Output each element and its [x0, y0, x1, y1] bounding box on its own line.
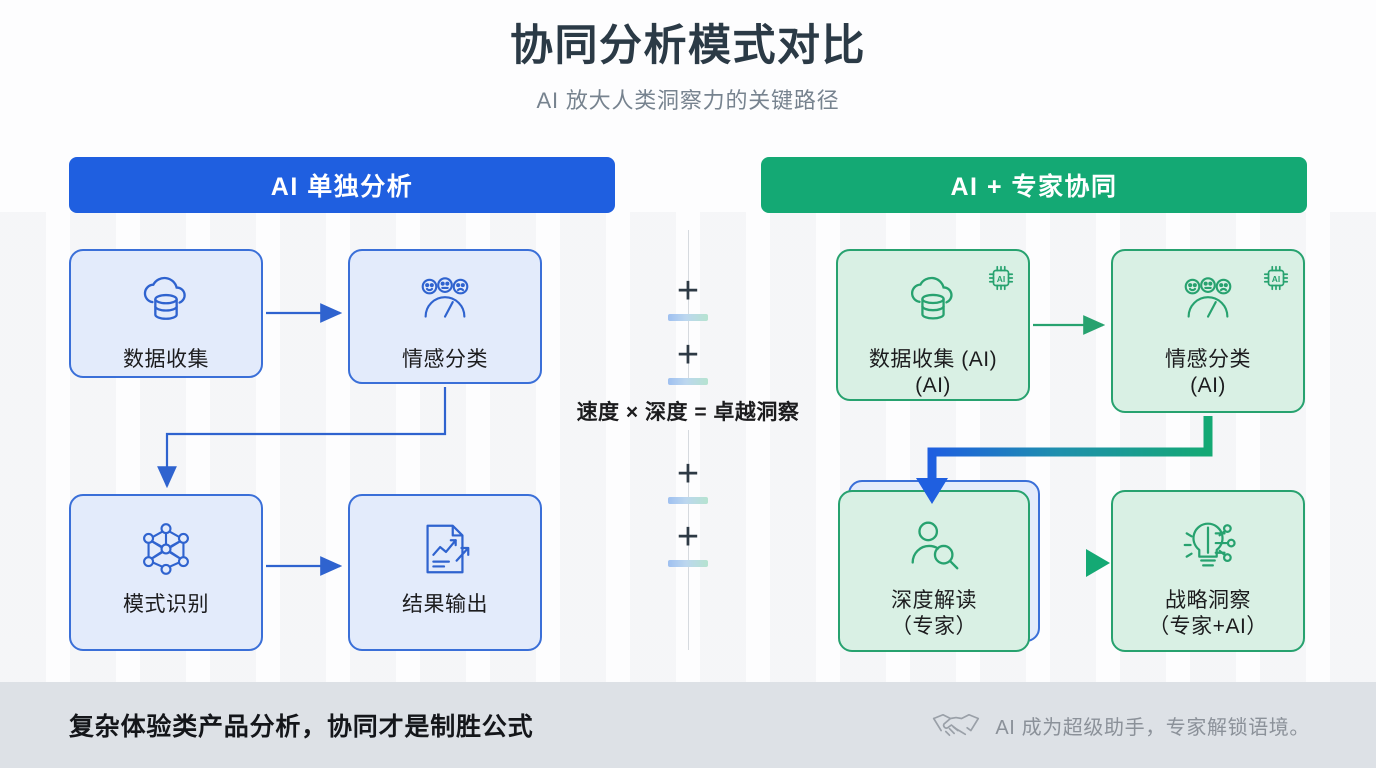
card-label: 战略洞察 （专家+AI） [1148, 588, 1268, 641]
page-subtitle: AI 放大人类洞察力的关键路径 [0, 83, 1376, 115]
card-sentiment-classification[interactable]: 情感分类 [348, 249, 542, 384]
infographic-canvas: 协同分析模式对比 AI 放大人类洞察力的关键路径 AI 单独分析 数据收集 情感… [0, 0, 1376, 768]
card-label: 深度解读 （专家） [891, 588, 977, 641]
lightbulb-circuit-icon [1177, 514, 1239, 576]
connector-sentiment-ai-to-deep [932, 416, 1208, 486]
footer-bar: 复杂体验类产品分析，协同才是制胜公式 AI 成为超级助手，专家解锁语境。 [0, 682, 1376, 768]
report-chart-icon [414, 518, 476, 580]
card-label: 情感分类 (AI) [1165, 347, 1251, 400]
footer-note: AI 成为超级助手，专家解锁语境。 [995, 711, 1310, 740]
card-label: 模式识别 [123, 592, 209, 618]
card-data-collection[interactable]: 数据收集 [69, 249, 263, 378]
footer-statement: 复杂体验类产品分析，协同才是制胜公式 [69, 707, 533, 743]
card-label: 数据收集 (AI) (AI) [869, 347, 997, 400]
svg-text:AI: AI [1272, 274, 1280, 284]
card-label: 情感分类 [402, 347, 488, 373]
ai-chip-badge-icon: AI [1261, 263, 1291, 293]
formula-text: 速度 × 深度 = 卓越洞察 [562, 396, 814, 426]
ai-chip-badge-icon: AI [986, 263, 1016, 293]
sentiment-gauge-icon [1177, 273, 1239, 335]
arrow-sentiment-to-pattern [167, 387, 445, 486]
card-pattern-recognition[interactable]: 模式识别 [69, 494, 263, 651]
page-title: 协同分析模式对比 [0, 22, 1376, 71]
card-data-collection-ai[interactable]: AI 数据收集 (AI) (AI) [836, 249, 1030, 401]
sentiment-gauge-icon [414, 273, 476, 335]
plus-symbol-3: + [665, 455, 711, 504]
plus-symbol-4: + [665, 518, 711, 567]
expert-search-icon [903, 514, 965, 576]
card-label: 数据收集 [123, 347, 209, 373]
footer-note-group: AI 成为超级助手，专家解锁语境。 [930, 710, 1310, 740]
panel-ai-expert: AI + 专家协同 [761, 157, 1307, 213]
card-deep-reading-expert[interactable]: 深度解读 （专家） [838, 490, 1030, 652]
panel-heading-ai-expert: AI + 专家协同 [761, 157, 1307, 213]
plus-symbol-2: + [665, 336, 711, 385]
card-label: 结果输出 [402, 592, 488, 618]
plus-symbol-1: + [665, 272, 711, 321]
panel-ai-only: AI 单独分析 [69, 157, 615, 213]
card-sentiment-classification-ai[interactable]: AI 情感分类 (AI) [1111, 249, 1305, 413]
handshake-icon [930, 710, 982, 740]
cloud-database-icon [902, 273, 964, 335]
card-strategic-insight[interactable]: 战略洞察 （专家+AI） [1111, 490, 1305, 652]
cloud-database-icon [135, 273, 197, 335]
card-result-output[interactable]: 结果输出 [348, 494, 542, 651]
neural-network-icon [135, 518, 197, 580]
arrowhead-to-strategy [1086, 549, 1110, 577]
header-block: 协同分析模式对比 AI 放大人类洞察力的关键路径 [0, 22, 1376, 115]
panel-heading-ai-only: AI 单独分析 [69, 157, 615, 213]
svg-text:AI: AI [997, 274, 1005, 284]
